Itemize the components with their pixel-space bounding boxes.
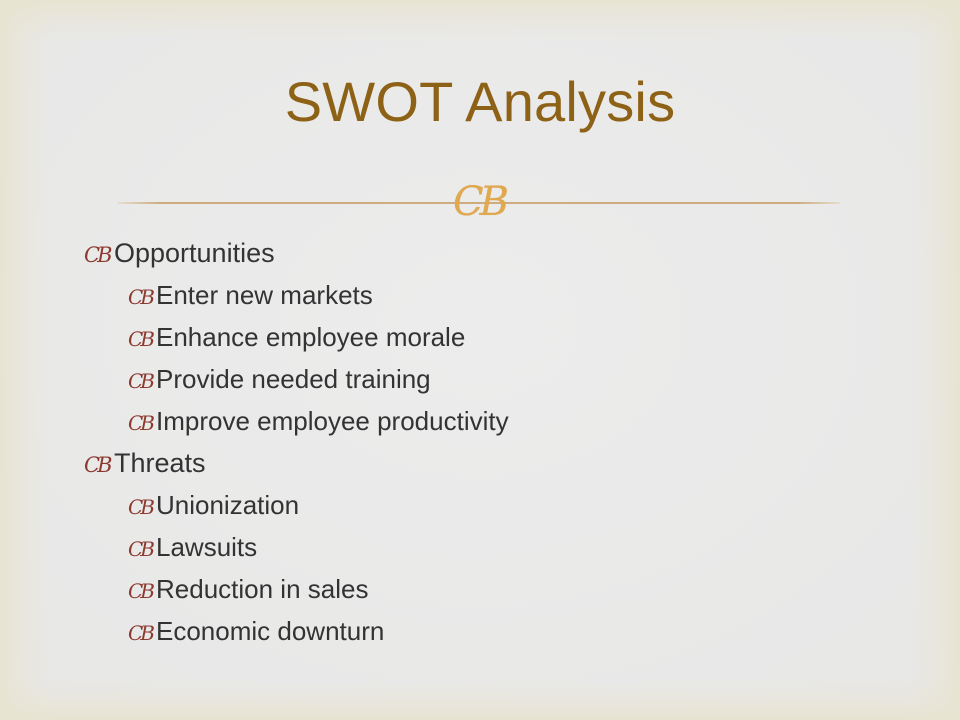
list-item-label: Threats (114, 448, 206, 479)
list-item: CB Reduction in sales (0, 574, 960, 616)
list-item: CB Unionization (0, 490, 960, 532)
list-item: CB Improve employee productivity (0, 406, 960, 448)
bullet-ornament-icon: CB (128, 581, 156, 601)
list-item: CB Enter new markets (0, 280, 960, 322)
list-item: CB Opportunities (0, 238, 960, 280)
list-item-label: Enter new markets (156, 280, 373, 311)
title-divider: CB (118, 202, 840, 204)
presentation-slide: SWOT Analysis CB CB Opportunities CB Ent… (0, 0, 960, 720)
bullet-ornament-icon: CB (128, 497, 156, 517)
bullet-ornament-icon: CB (128, 413, 156, 433)
list-item-label: Opportunities (114, 238, 275, 269)
list-item: CB Economic downturn (0, 616, 960, 658)
bullet-ornament-icon: CB (128, 329, 156, 349)
list-item-label: Economic downturn (156, 616, 384, 647)
bullet-ornament-icon: CB (84, 245, 114, 266)
bullet-ornament-icon: CB (128, 623, 156, 643)
list-item-label: Unionization (156, 490, 299, 521)
list-item-label: Reduction in sales (156, 574, 368, 605)
list-item: CB Threats (0, 448, 960, 490)
list-item-label: Lawsuits (156, 532, 257, 563)
bullet-ornament-icon: CB (128, 371, 156, 391)
list-item: CB Provide needed training (0, 364, 960, 406)
floral-ornament-icon: CB (447, 182, 511, 222)
bullet-ornament-icon: CB (84, 455, 114, 476)
bullet-ornament-icon: CB (128, 287, 156, 307)
list-item-label: Provide needed training (156, 364, 431, 395)
page-title: SWOT Analysis (0, 74, 960, 130)
bullet-ornament-icon: CB (128, 539, 156, 559)
slide-title-block: SWOT Analysis (0, 74, 960, 130)
list-item: CB Enhance employee morale (0, 322, 960, 364)
list-item-label: Improve employee productivity (156, 406, 509, 437)
slide-body-content: CB Opportunities CB Enter new markets CB… (0, 238, 960, 658)
list-item-label: Enhance employee morale (156, 322, 465, 353)
list-item: CB Lawsuits (0, 532, 960, 574)
